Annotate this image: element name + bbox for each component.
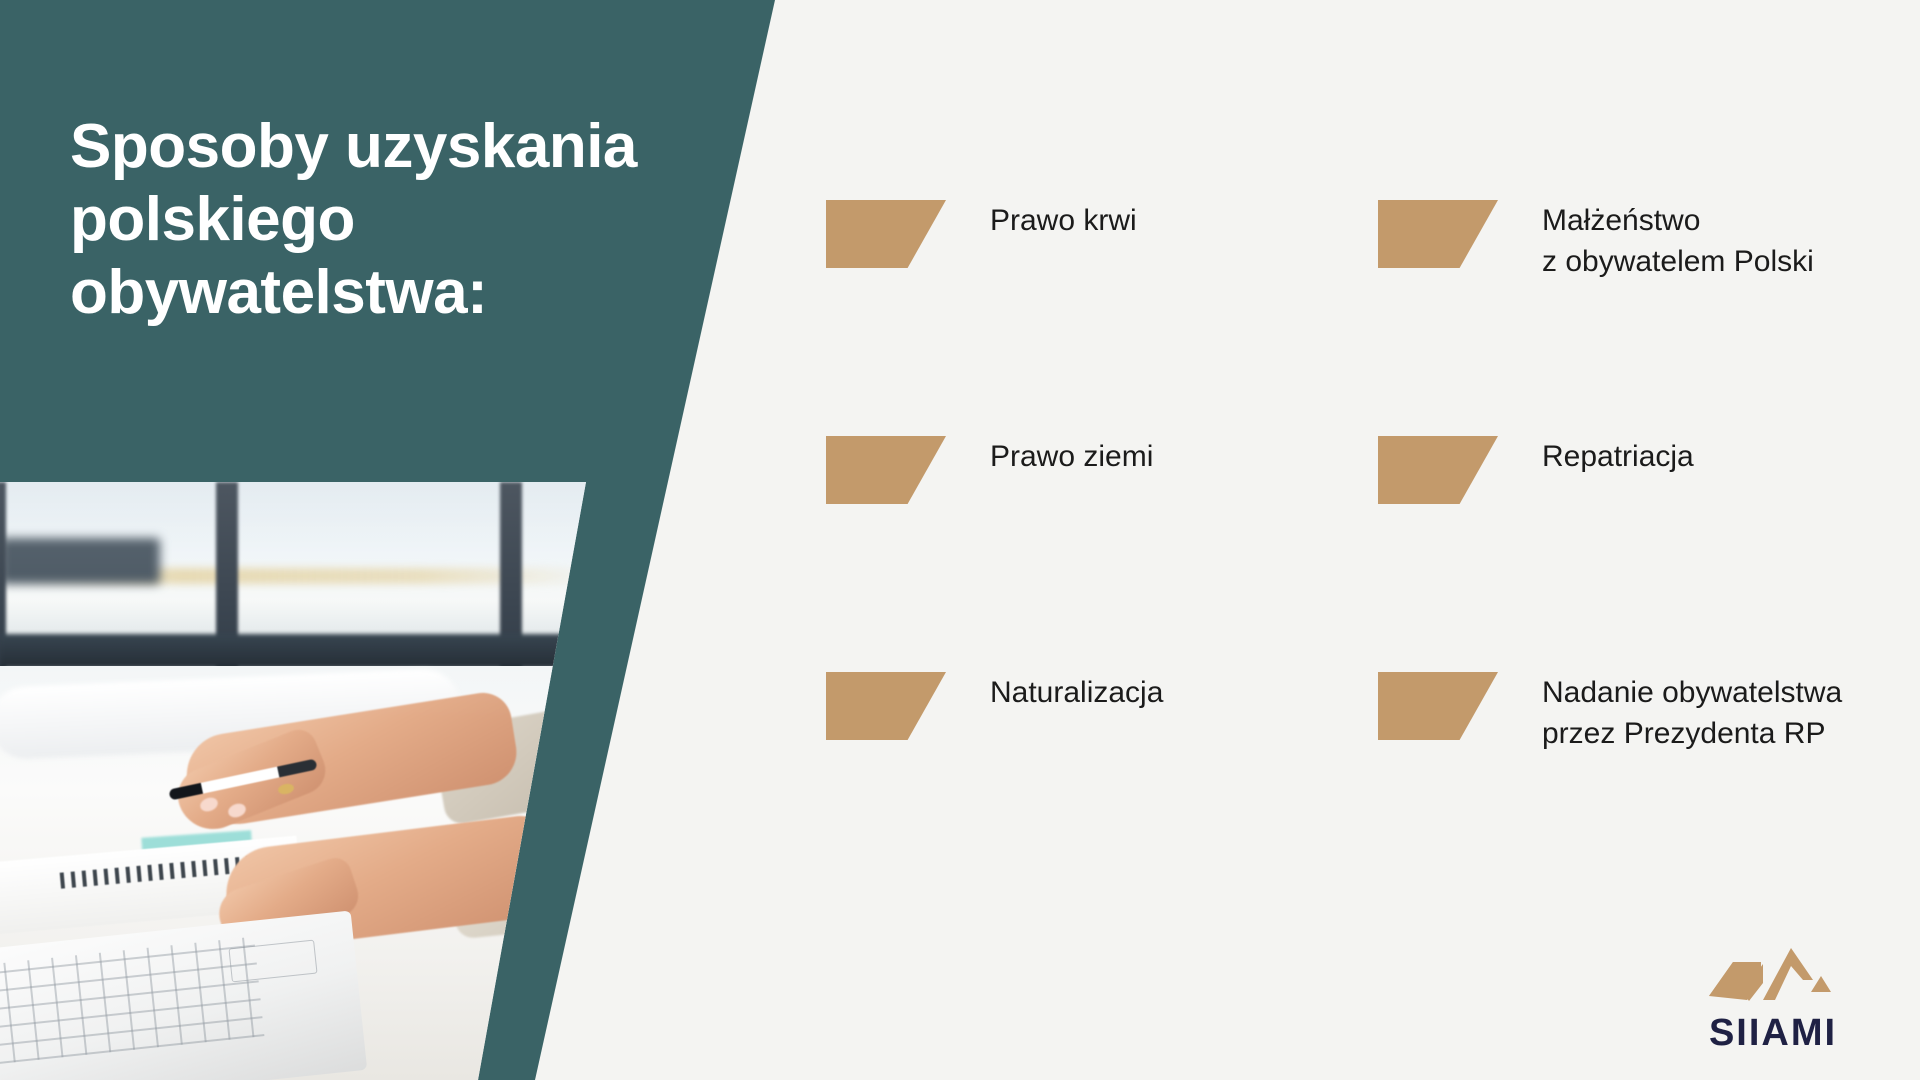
window-sill — [0, 634, 600, 668]
list-item[interactable]: Nadanie obywatelstwa przez Prezydenta RP — [1378, 668, 1846, 904]
list-item-label: Nadanie obywatelstwa przez Prezydenta RP — [1542, 668, 1842, 754]
list-item[interactable]: Naturalizacja — [826, 668, 1294, 904]
list-item[interactable]: Prawo krwi — [826, 196, 1294, 432]
trapezoid-bullet-icon — [826, 672, 946, 740]
trapezoid-bullet-icon — [1378, 672, 1498, 740]
trapezoid-bullet-icon — [1378, 200, 1498, 268]
list-item-label: Prawo krwi — [990, 196, 1137, 241]
trapezoid-bullet-icon — [1378, 436, 1498, 504]
mountain-peaks-icon — [1707, 934, 1839, 1010]
window-dark-shape — [0, 538, 160, 584]
list-item[interactable]: Prawo ziemi — [826, 432, 1294, 668]
list-item[interactable]: Małżeństwo z obywatelem Polski — [1378, 196, 1846, 432]
list-item-label: Prawo ziemi — [990, 432, 1153, 477]
list-item[interactable]: Repatriacja — [1378, 432, 1846, 668]
trapezoid-bullet-icon — [826, 200, 946, 268]
citizenship-methods-list: Prawo krwi Małżeństwo z obywatelem Polsk… — [826, 196, 1846, 904]
slide-canvas: Sposoby uzyskania polskiego obywatelstwa… — [0, 0, 1920, 1080]
trapezoid-bullet-icon — [826, 436, 946, 504]
page-title: Sposoby uzyskania polskiego obywatelstwa… — [70, 110, 710, 329]
list-item-label: Małżeństwo z obywatelem Polski — [1542, 196, 1814, 282]
siiami-logo: SIIAMI — [1678, 934, 1868, 1052]
list-item-label: Repatriacja — [1542, 432, 1694, 477]
list-item-label: Naturalizacja — [990, 668, 1163, 713]
logo-wordmark: SIIAMI — [1709, 1014, 1837, 1052]
